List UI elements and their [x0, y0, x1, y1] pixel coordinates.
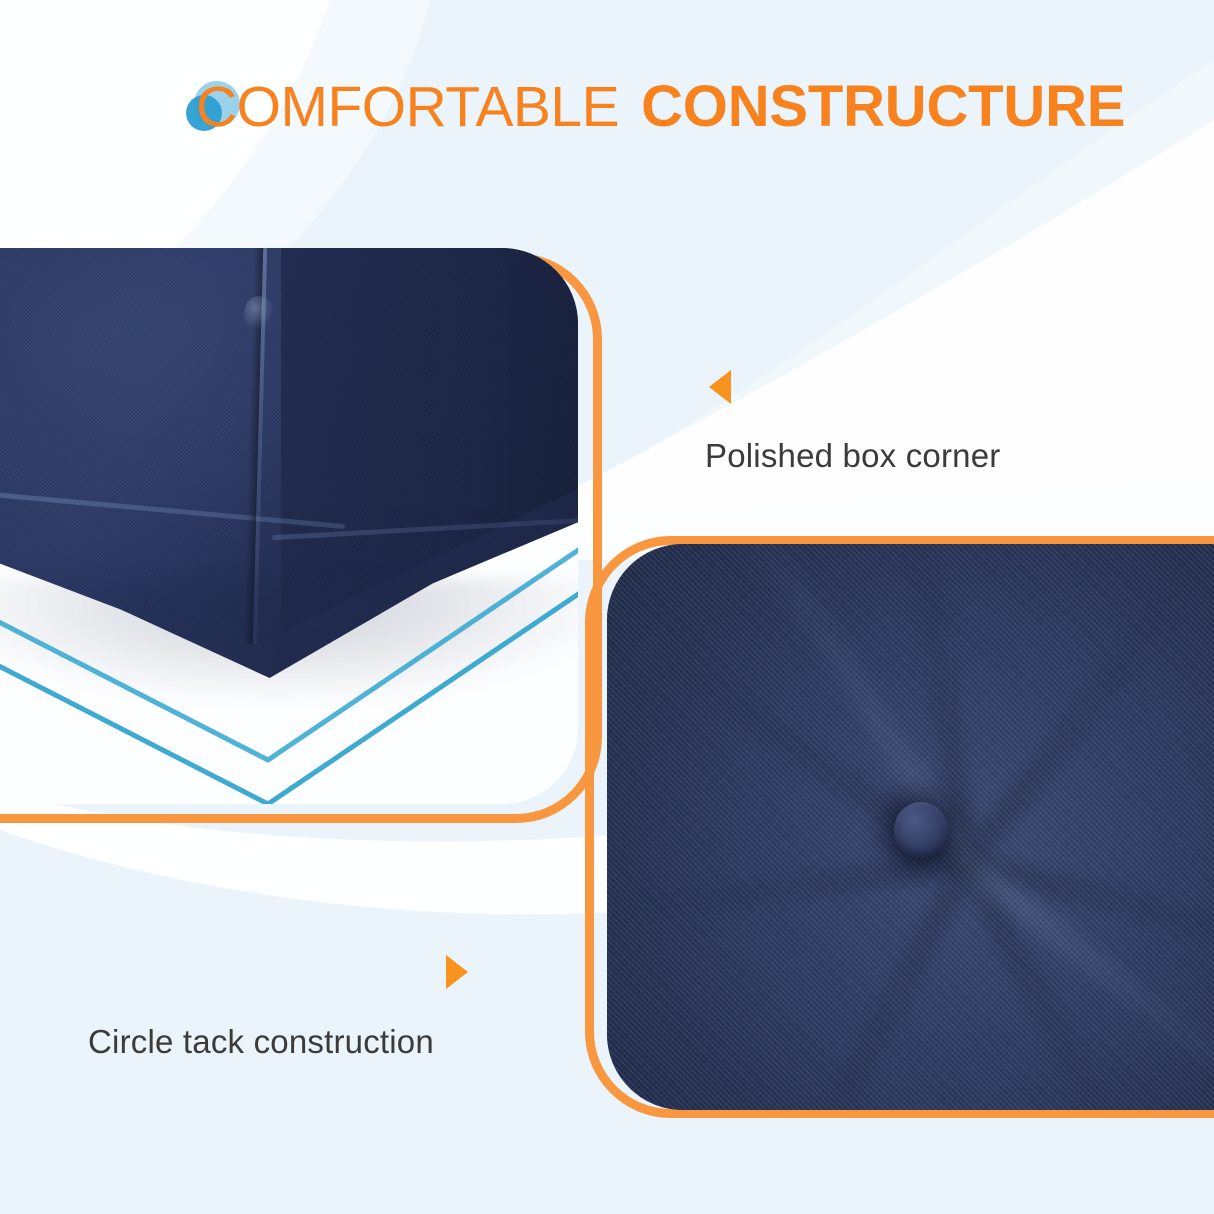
panel-circle-tack — [585, 536, 1214, 1118]
panel-polished-box-corner — [0, 253, 602, 823]
callout-polished-box-corner: Polished box corner — [705, 370, 1000, 475]
circle-tack-button — [894, 802, 948, 858]
page-title-bold: CONSTRUCTURE — [641, 78, 1125, 136]
triangle-left-icon — [709, 370, 731, 404]
cushion-photo-scene — [0, 248, 578, 804]
callout-circle-tack: Circle tack construction — [88, 955, 468, 1061]
callout-label-circle-tack: Circle tack construction — [88, 1023, 468, 1061]
photo-polished-box-corner — [0, 248, 578, 804]
chevron-reflection-lines — [0, 248, 578, 804]
page-title-light: COMFORTABLE — [196, 79, 619, 136]
tufted-fabric-scene — [607, 544, 1214, 1110]
chevron-line-inner — [0, 534, 578, 760]
infographic-canvas: COMFORTABLE CONSTRUCTURE — [0, 0, 1214, 1214]
header: COMFORTABLE CONSTRUCTURE — [0, 0, 1214, 230]
callout-label-polished-box-corner: Polished box corner — [705, 437, 1000, 475]
triangle-right-icon — [446, 955, 468, 989]
photo-circle-tack — [607, 544, 1214, 1110]
page-title: COMFORTABLE CONSTRUCTURE — [196, 78, 1125, 148]
